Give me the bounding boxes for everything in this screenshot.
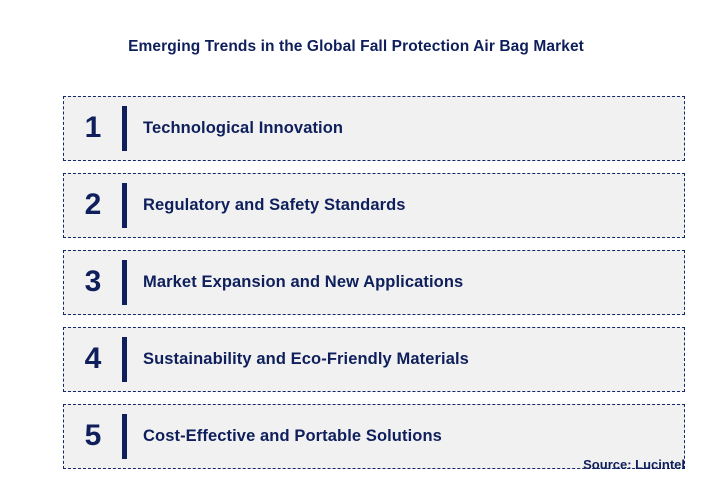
trend-label: Regulatory and Safety Standards (127, 196, 684, 215)
trend-label: Cost-Effective and Portable Solutions (127, 427, 684, 446)
trend-label: Market Expansion and New Applications (127, 273, 684, 292)
trend-number: 5 (64, 421, 122, 453)
source-attribution: Source: Lucintel (583, 457, 685, 472)
trend-label: Technological Innovation (127, 119, 684, 138)
trend-label: Sustainability and Eco-Friendly Material… (127, 350, 684, 369)
trend-row-4[interactable]: 4 Sustainability and Eco-Friendly Materi… (63, 327, 685, 392)
trend-list: 1 Technological Innovation 2 Regulatory … (63, 96, 685, 469)
trend-number: 4 (64, 344, 122, 376)
trend-number: 2 (64, 190, 122, 222)
trend-row-3[interactable]: 3 Market Expansion and New Applications (63, 250, 685, 315)
infographic-canvas: Emerging Trends in the Global Fall Prote… (0, 0, 712, 481)
trend-row-1[interactable]: 1 Technological Innovation (63, 96, 685, 161)
trend-row-2[interactable]: 2 Regulatory and Safety Standards (63, 173, 685, 238)
trend-number: 1 (64, 113, 122, 145)
trend-number: 3 (64, 267, 122, 299)
page-title: Emerging Trends in the Global Fall Prote… (0, 38, 712, 56)
